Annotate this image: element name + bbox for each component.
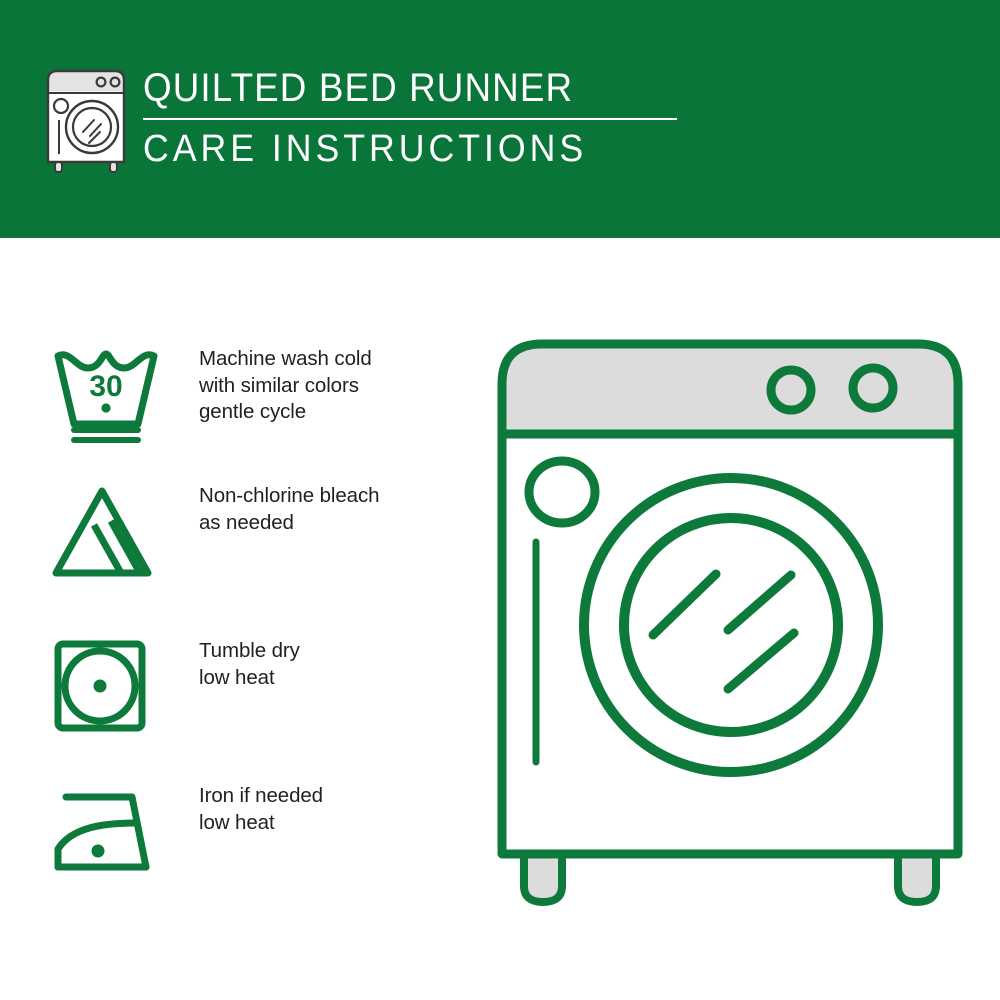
- care-text-tumble-dry: Tumble dry low heat: [199, 638, 300, 691]
- iron-low-heat-icon: [52, 783, 162, 881]
- care-line: gentle cycle: [199, 399, 372, 426]
- care-row-tumble-dry: Tumble dry low heat: [52, 638, 452, 736]
- header-band: QUILTED BED RUNNER CARE INSTRUCTIONS: [0, 0, 1000, 238]
- care-line: Iron if needed: [199, 783, 323, 810]
- front-load-washing-machine-illustration: [488, 330, 972, 930]
- tumble-dry-low-heat-icon: [52, 638, 162, 736]
- care-row-bleach: Non-chlorine bleach as needed: [52, 483, 452, 581]
- page-subtitle: CARE INSTRUCTIONS: [143, 127, 726, 171]
- header-text-block: QUILTED BED RUNNER CARE INSTRUCTIONS: [143, 64, 763, 171]
- care-line: with similar colors: [199, 373, 372, 400]
- care-instructions-infographic: QUILTED BED RUNNER CARE INSTRUCTIONS 30: [0, 0, 1000, 1000]
- non-chlorine-bleach-triangle-icon: [52, 483, 162, 581]
- page-title: QUILTED BED RUNNER: [143, 64, 713, 112]
- machine-body: [502, 434, 958, 854]
- care-text-iron: Iron if needed low heat: [199, 783, 323, 836]
- care-row-machine-wash: 30 Machine wash cold with similar colors…: [52, 346, 452, 444]
- care-line: Non-chlorine bleach: [199, 483, 379, 510]
- care-instruction-list: 30 Machine wash cold with similar colors…: [0, 238, 470, 1000]
- washing-machine-icon: [44, 66, 128, 174]
- wash-temperature-value: 30: [89, 370, 122, 403]
- machine-leg-left: [524, 854, 562, 902]
- machine-leg-right: [898, 854, 936, 902]
- care-line: low heat: [199, 665, 300, 692]
- care-text-bleach: Non-chlorine bleach as needed: [199, 483, 379, 536]
- care-line: Tumble dry: [199, 638, 300, 665]
- care-line: as needed: [199, 510, 379, 537]
- care-row-iron: Iron if needed low heat: [52, 783, 452, 881]
- title-divider: [143, 118, 677, 120]
- care-text-machine-wash: Machine wash cold with similar colors ge…: [199, 346, 372, 426]
- wash-tub-30-gentle-icon: 30: [52, 346, 162, 444]
- care-line: Machine wash cold: [199, 346, 372, 373]
- care-line: low heat: [199, 810, 323, 837]
